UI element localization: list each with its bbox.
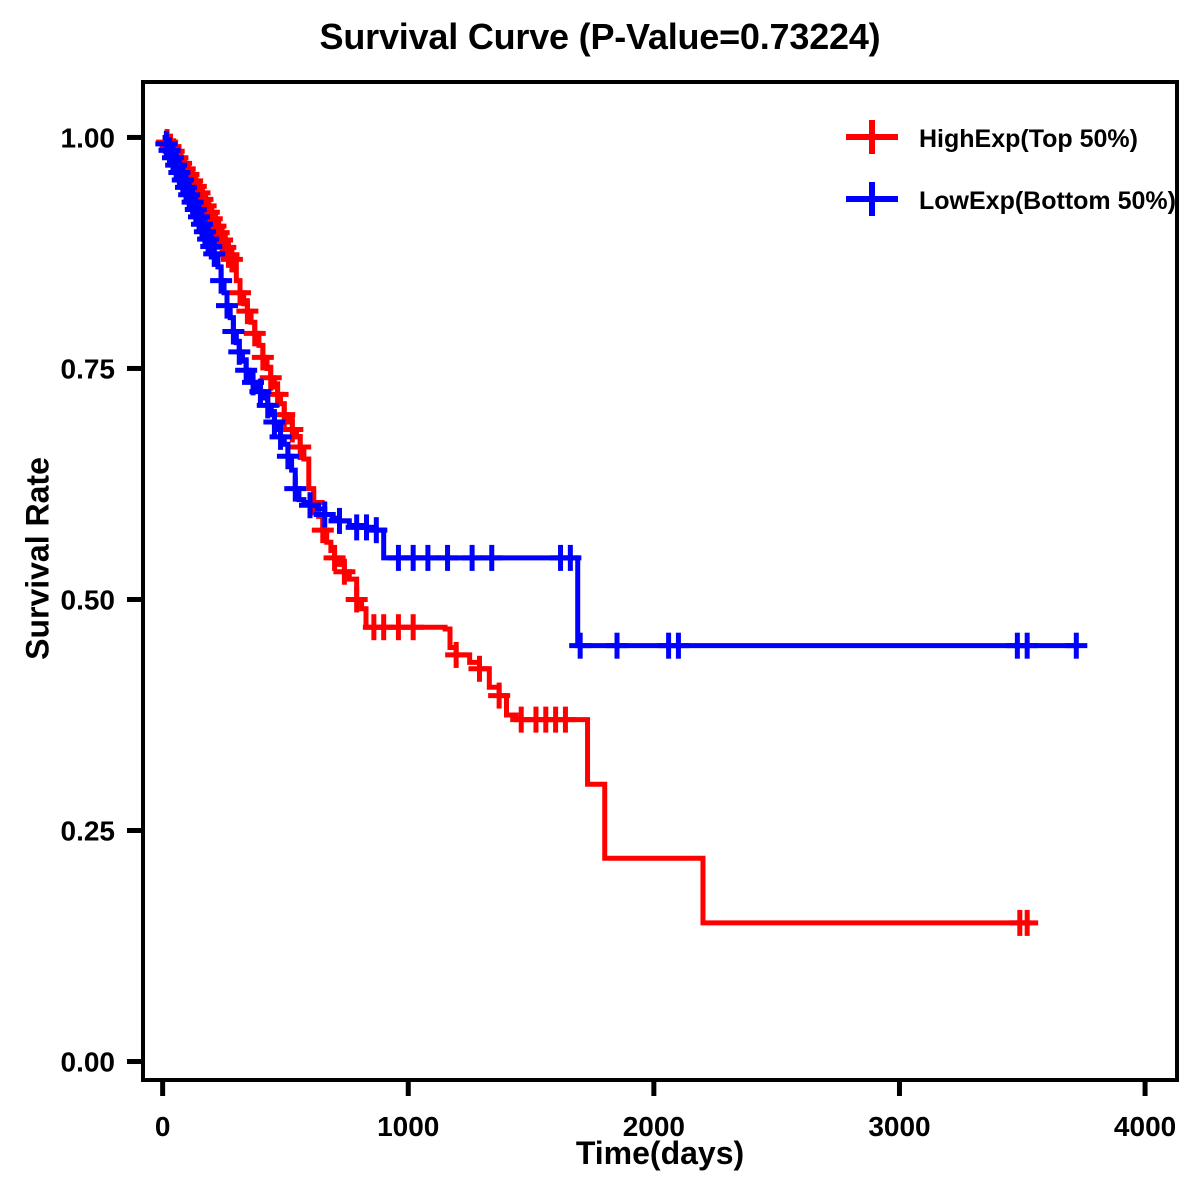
survival-step-line-0 [163,137,1028,922]
y-tick-label: 1.00 [61,122,116,153]
series-layer [155,129,1087,936]
x-tick-label: 0 [155,1111,171,1142]
x-tick-label: 4000 [1114,1111,1176,1142]
survival-curve-figure: Survival Curve (P-Value=0.73224) Surviva… [0,0,1200,1200]
x-tick-label: 3000 [868,1111,930,1142]
y-tick-label: 0.00 [61,1047,116,1078]
legend: HighExp(Top 50%)LowExp(Bottom 50%) [846,120,1176,216]
axis-ticks: 010002000300040000.000.250.500.751.00 [61,122,1177,1142]
y-tick-label: 0.50 [61,584,116,615]
legend-label: HighExp(Top 50%) [919,125,1138,153]
censor-marks-0 [156,129,1038,936]
y-tick-label: 0.75 [61,353,116,384]
x-tick-label: 2000 [623,1111,685,1142]
y-tick-label: 0.25 [61,816,116,847]
x-tick-label: 1000 [377,1111,439,1142]
legend-label: LowExp(Bottom 50%) [919,187,1176,215]
legend-item-1[interactable]: LowExp(Bottom 50%) [846,182,1176,216]
legend-item-0[interactable]: HighExp(Top 50%) [846,120,1138,154]
plot-area: 010002000300040000.000.250.500.751.00 Hi… [0,0,1200,1200]
